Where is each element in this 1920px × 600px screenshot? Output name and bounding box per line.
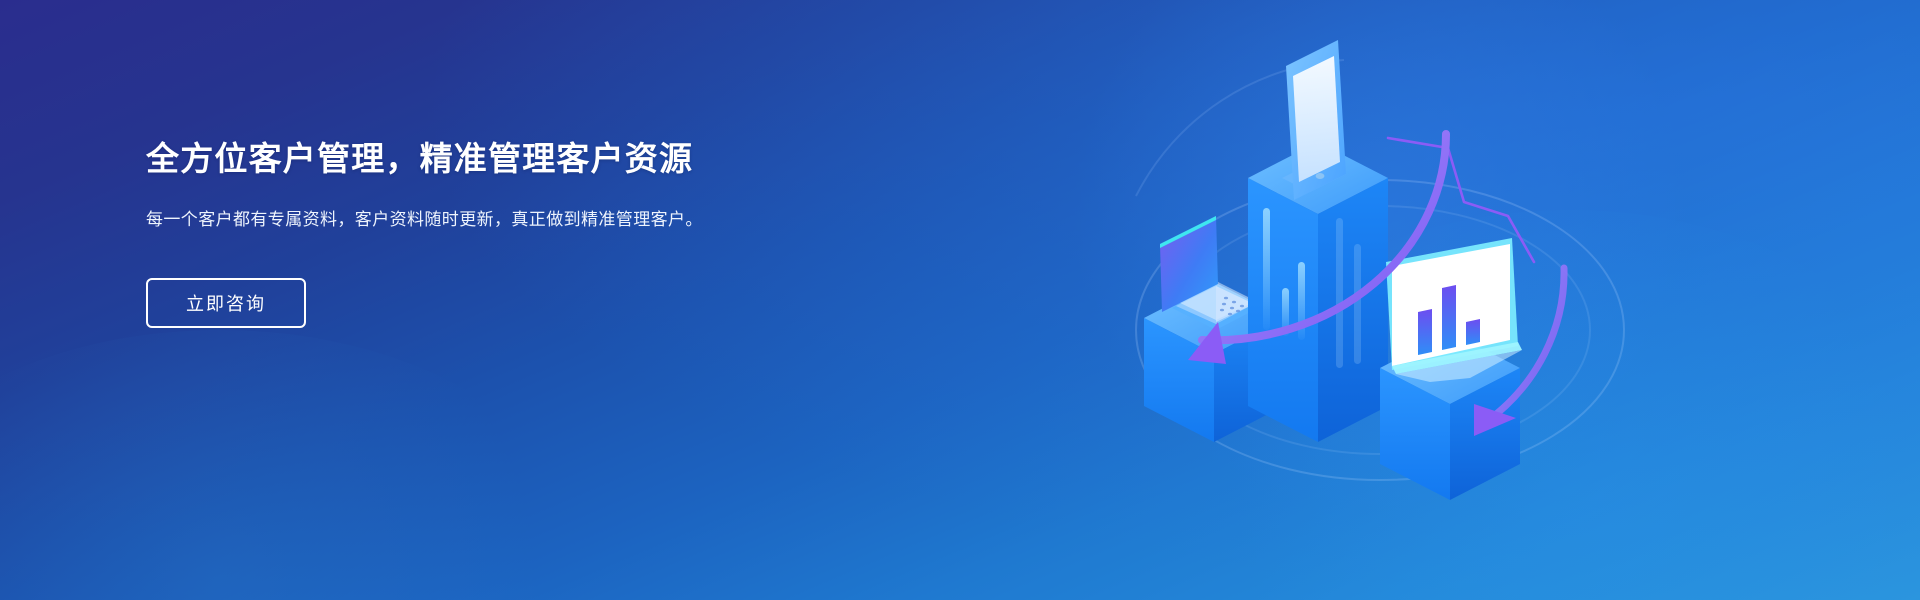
hero-subtitle: 每一个客户都有专属资料，客户资料随时更新，真正做到精准管理客户。	[146, 206, 732, 234]
page-title: 全方位客户管理，精准管理客户资源	[146, 138, 786, 179]
tablet-icon	[1282, 40, 1346, 200]
consult-now-button[interactable]: 立即咨询	[146, 278, 306, 328]
background-bloom-left	[0, 330, 600, 600]
hero-copy: 全方位客户管理，精准管理客户资源 每一个客户都有专属资料，客户资料随时更新，真正…	[146, 138, 786, 328]
chart-monitor-icon	[1386, 238, 1522, 382]
hero-illustration	[1130, 30, 1690, 570]
hero-banner: 全方位客户管理，精准管理客户资源 每一个客户都有专属资料，客户资料随时更新，真正…	[0, 0, 1920, 600]
